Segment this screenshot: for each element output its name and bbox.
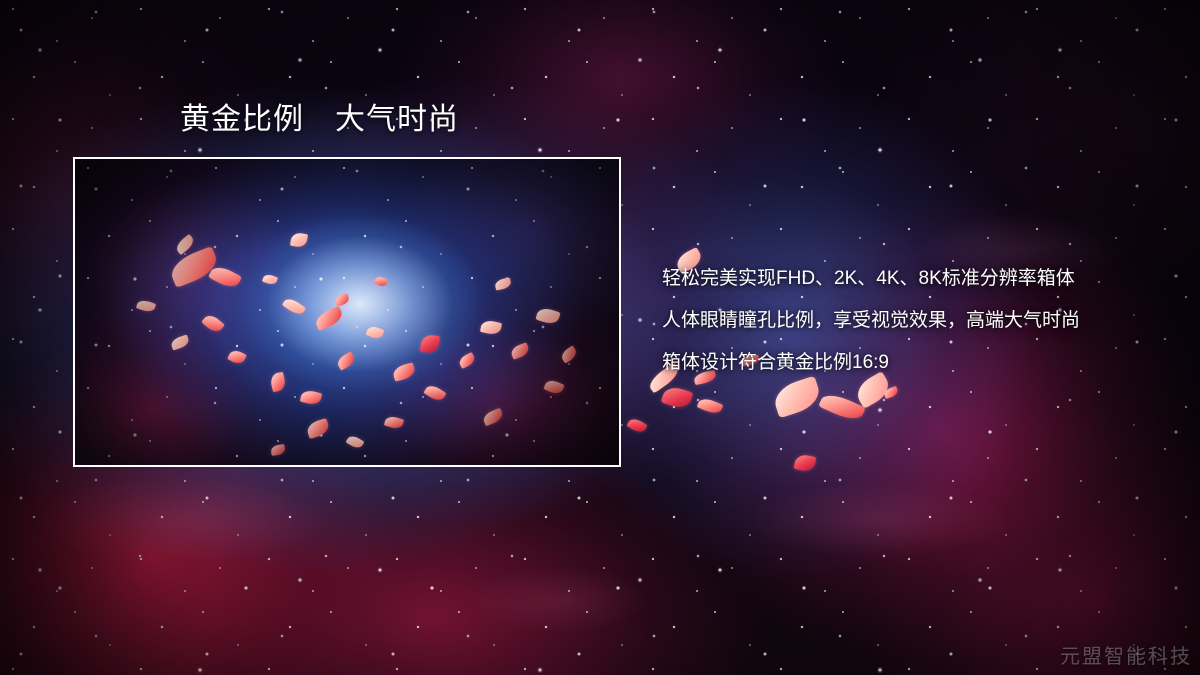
feature-line-2: 人体眼睛瞳孔比例，享受视觉效果，高端大气时尚: [662, 300, 1162, 342]
slide-headline: 黄金比例 大气时尚: [180, 103, 459, 136]
feature-description-block: 轻松完美实现FHD、2K、4K、8K标准分辨率箱体 人体眼睛瞳孔比例，享受视觉效…: [662, 258, 1162, 384]
feature-line-1: 轻松完美实现FHD、2K、4K、8K标准分辨率箱体: [662, 258, 1162, 300]
panel-vignette: [75, 159, 619, 465]
feature-line-3: 箱体设计符合黄金比例16:9: [662, 342, 1162, 384]
company-watermark: 元盟智能科技: [1060, 640, 1192, 669]
slide-canvas: 黄金比例 大气时尚 轻松完美实现FHD、2K、4K、8K标准分辨率箱体 人体眼睛…: [0, 0, 1200, 675]
display-panel-frame: [73, 157, 621, 467]
